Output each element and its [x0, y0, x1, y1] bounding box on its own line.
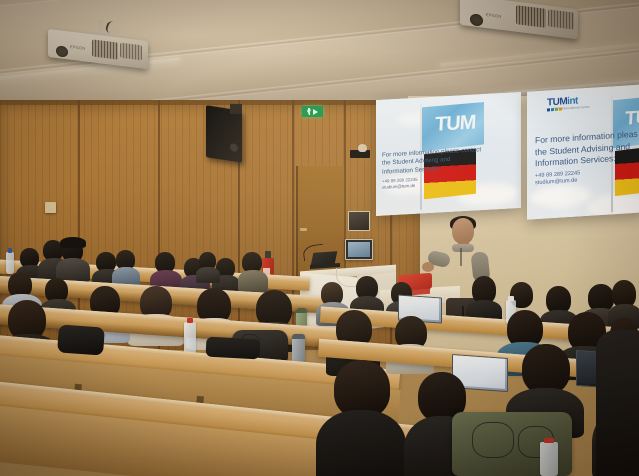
audience-person: [112, 250, 140, 284]
wall-monitor: [345, 239, 373, 260]
wall-camera-icon: [350, 144, 370, 158]
audience-person: [316, 360, 406, 476]
wall-loudspeaker: [206, 105, 242, 163]
projection-screen-right: TUMint TUM International Center TUM For …: [527, 84, 639, 219]
foreground-person: [596, 330, 639, 476]
lecture-hall-photo: EPSON EPSON: [0, 0, 639, 476]
thermos-flask[interactable]: [292, 334, 305, 364]
water-bottle[interactable]: [6, 252, 14, 274]
audience-person: [150, 252, 182, 288]
wall-control-box: [348, 211, 370, 231]
door-handle[interactable]: [300, 228, 307, 231]
projection-screen-left: TUM For more information please contact …: [376, 92, 521, 216]
emergency-exit-icon: [302, 106, 323, 117]
wall-trim: [0, 100, 420, 105]
folded-jacket: [206, 337, 261, 360]
audience-person: [56, 238, 90, 280]
water-bottle[interactable]: [540, 442, 558, 476]
audience-person: [238, 252, 268, 288]
light-switch[interactable]: [45, 202, 56, 213]
audience-person: [196, 252, 220, 280]
bag: [57, 324, 105, 355]
